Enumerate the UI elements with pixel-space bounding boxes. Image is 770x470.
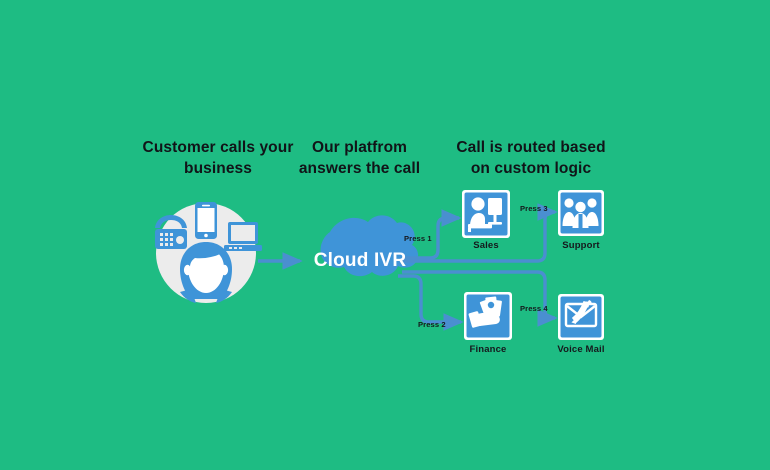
press-label-1: Press 1 xyxy=(404,234,432,243)
diagram-canvas: Customer calls your business Our platfro… xyxy=(0,0,770,470)
heading-routing-line1: Call is routed based xyxy=(450,137,612,158)
node-sales[interactable] xyxy=(462,190,510,238)
cloud-ivr-label: Cloud IVR xyxy=(300,250,420,272)
heading-routing-line2: on custom logic xyxy=(450,158,612,179)
woman-avatar-icon xyxy=(180,242,232,303)
node-finance[interactable] xyxy=(464,292,512,340)
heading-platform-line2: answers the call xyxy=(292,158,427,179)
label-finance: Finance xyxy=(448,344,528,355)
node-support[interactable] xyxy=(558,190,604,236)
press-label-2: Press 2 xyxy=(418,320,446,329)
smartphone-icon xyxy=(195,202,217,239)
press-label-3: Press 3 xyxy=(520,204,548,213)
press-label-4: Press 4 xyxy=(520,304,548,313)
heading-platform-answers: Our platfrom answers the call xyxy=(292,137,427,179)
connector-cloud-to-finance xyxy=(398,276,461,322)
heading-customer-line2: business xyxy=(128,158,308,179)
customer-illustration xyxy=(155,202,262,303)
node-voice-mail[interactable] xyxy=(558,294,604,340)
heading-call-routing: Call is routed based on custom logic xyxy=(450,137,612,179)
heading-customer-calls: Customer calls your business xyxy=(128,137,308,179)
label-support: Support xyxy=(541,240,621,251)
heading-customer-line1: Customer calls your xyxy=(128,137,308,158)
laptop-icon xyxy=(224,222,262,251)
label-voice-mail: Voice Mail xyxy=(541,344,621,355)
group-of-people-icon xyxy=(563,198,599,228)
heading-platform-line1: Our platfrom xyxy=(292,137,427,158)
diagram-graphics-layer xyxy=(0,0,770,470)
label-sales: Sales xyxy=(446,240,526,251)
